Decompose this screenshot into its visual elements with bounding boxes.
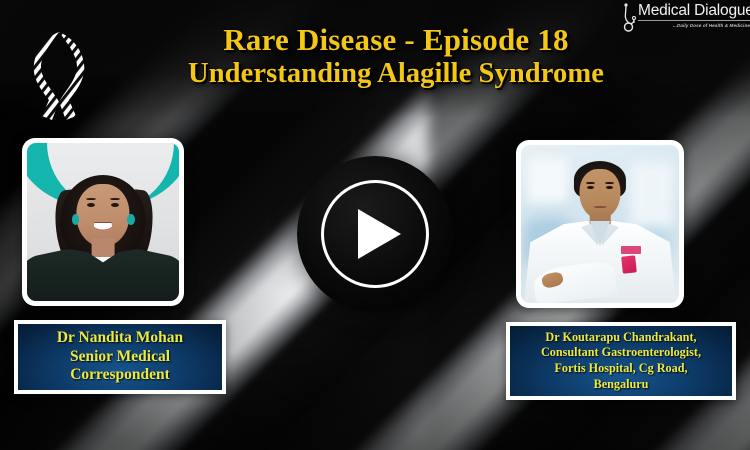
logo-name-text: Medical Dialogues bbox=[638, 2, 750, 19]
zebra-awareness-ribbon-icon bbox=[22, 24, 96, 128]
episode-title: Rare Disease - Episode 18 Understanding … bbox=[118, 24, 674, 88]
title-line-2: Understanding Alagille Syndrome bbox=[118, 59, 674, 88]
name-plate-left: Dr Nandita Mohan Senior Medical Correspo… bbox=[14, 320, 226, 394]
plate-left-line-3: Correspondent bbox=[70, 366, 170, 385]
play-button-ring bbox=[321, 180, 429, 288]
plate-right-line-1: Dr Koutarapu Chandrakant, bbox=[545, 330, 696, 346]
plate-right-line-2: Consultant Gastroenterologist, bbox=[541, 345, 701, 361]
video-thumbnail-stage: Medical Dialogues ...Daily Dose of Healt… bbox=[0, 0, 750, 450]
plate-right-line-3: Fortis Hospital, Cg Road, bbox=[554, 361, 687, 377]
play-button[interactable] bbox=[297, 156, 453, 312]
plate-right-line-4: Bengaluru bbox=[594, 377, 649, 393]
plate-left-line-2: Senior Medical bbox=[70, 348, 170, 367]
guest-photo-right bbox=[516, 140, 684, 308]
name-plate-right: Dr Koutarapu Chandrakant, Consultant Gas… bbox=[506, 322, 736, 400]
guest-photo-left bbox=[22, 138, 184, 306]
play-triangle-icon bbox=[358, 209, 401, 259]
plate-left-line-1: Dr Nandita Mohan bbox=[57, 329, 183, 348]
logo-divider bbox=[638, 20, 750, 21]
title-line-1: Rare Disease - Episode 18 bbox=[118, 24, 674, 56]
